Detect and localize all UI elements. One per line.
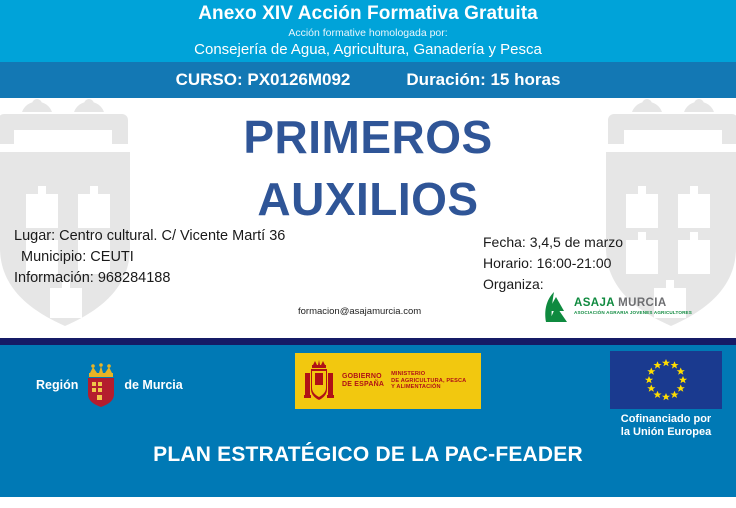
- asaja-leaf-icon: [543, 291, 570, 323]
- eu-flag-icon: [610, 351, 722, 409]
- schedule-date: Fecha: 3,4,5 de marzo: [483, 232, 623, 253]
- course-title-line-1: PRIMEROS: [0, 106, 736, 168]
- course-duration-label: Duración: 15 horas: [406, 70, 560, 90]
- schedule-details: Fecha: 3,4,5 de marzo Horario: 16:00-21:…: [483, 232, 623, 295]
- course-code-label: CURSO: PX0126M092: [176, 70, 351, 90]
- main-content-area: PRIMEROS AUXILIOS Lugar: Centro cultural…: [0, 98, 736, 338]
- course-poster: Anexo XIV Acción Formativa Gratuita Acci…: [0, 0, 736, 508]
- schedule-hours: Horario: 16:00-21:00: [483, 253, 623, 274]
- ministerio-label: MINISTERIO DE AGRICULTURA, PESCA Y ALIME…: [391, 371, 466, 391]
- pac-feader-slogan: PLAN ESTRATÉGICO DE LA PAC-FEADER: [0, 443, 736, 467]
- gobierno-label: GOBIERNO DE ESPAÑA: [342, 373, 384, 390]
- asaja-name-bold: ASAJA: [574, 297, 615, 309]
- course-title: PRIMEROS AUXILIOS: [0, 106, 736, 230]
- bottom-margin: [0, 497, 736, 508]
- murcia-crest-icon: [84, 363, 118, 407]
- asaja-murcia-logo: ASAJA MURCIA ASOCIACIÓN AGRARIA JOVENES …: [543, 290, 693, 324]
- region-word: Región: [36, 378, 78, 392]
- footer-band: Región de Murcia: [0, 345, 736, 497]
- venue-details: Lugar: Centro cultural. C/ Vicente Martí…: [14, 226, 285, 289]
- eu-caption-line-2: la Unión Europea: [610, 426, 722, 439]
- contact-email[interactable]: formacion@asajamurcia.com: [298, 306, 421, 317]
- page-title: Anexo XIV Acción Formativa Gratuita: [198, 3, 538, 25]
- venue-municipality: Municipio: CEUTI: [14, 247, 285, 268]
- asaja-name-region: MURCIA: [615, 297, 667, 309]
- eu-funding-caption: Cofinanciado por la Unión Europea: [610, 413, 722, 438]
- gobierno-line-2: DE ESPAÑA: [342, 381, 384, 389]
- header-band: Anexo XIV Acción Formativa Gratuita Acci…: [0, 0, 736, 62]
- region-suffix: de Murcia: [124, 378, 182, 392]
- course-info-band: CURSO: PX0126M092 Duración: 15 horas: [0, 62, 736, 98]
- asaja-logo-name: ASAJA MURCIA: [574, 298, 692, 310]
- venue-place: Lugar: Centro cultural. C/ Vicente Martí…: [14, 226, 285, 247]
- region-de-murcia-logo: Región de Murcia: [36, 361, 186, 409]
- header-organism: Consejería de Agua, Agricultura, Ganader…: [194, 40, 542, 59]
- header-subtitle: Acción formative homologada por:: [288, 26, 447, 40]
- ministerio-line-3: Y ALIMENTACIÓN: [391, 384, 466, 391]
- eu-caption-line-1: Cofinanciado por: [610, 413, 722, 426]
- ministerio-line-1: MINISTERIO: [391, 371, 466, 378]
- venue-information: Información: 968284188: [14, 268, 285, 289]
- gobierno-de-espana-logo: GOBIERNO DE ESPAÑA MINISTERIO DE AGRICUL…: [295, 353, 481, 409]
- navy-divider: [0, 338, 736, 345]
- european-union-logo: Cofinanciado por la Unión Europea: [610, 351, 722, 437]
- gobierno-line-1: GOBIERNO: [342, 373, 384, 381]
- spain-coat-of-arms-icon: [301, 359, 337, 403]
- asaja-logo-tagline: ASOCIACIÓN AGRARIA JOVENES AGRICULTORES: [574, 311, 692, 316]
- asaja-logo-text: ASAJA MURCIA ASOCIACIÓN AGRARIA JOVENES …: [574, 298, 692, 316]
- course-title-line-2: AUXILIOS: [0, 168, 736, 230]
